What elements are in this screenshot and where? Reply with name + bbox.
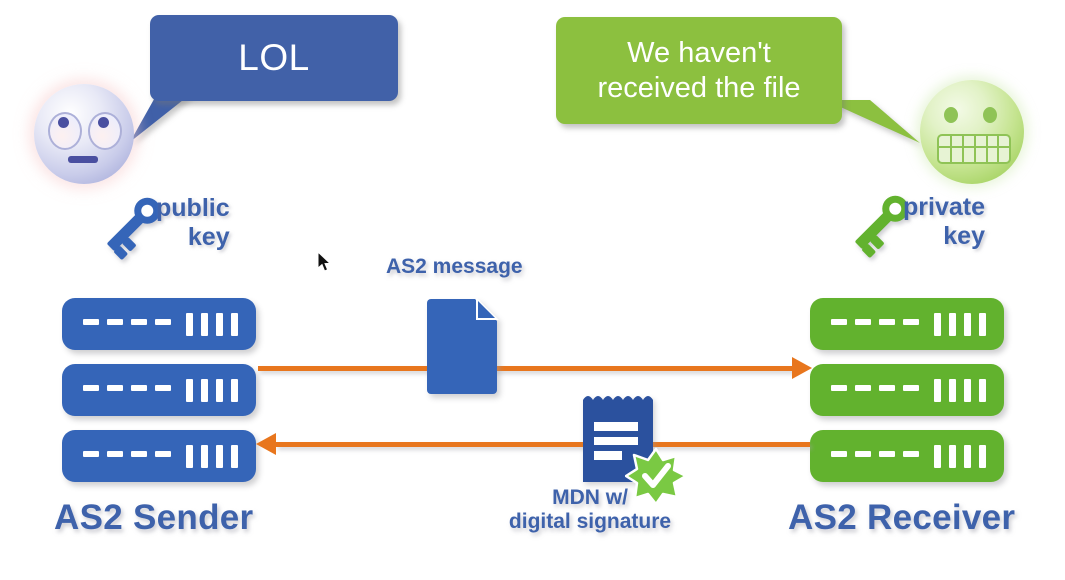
emoji-grimace-left-eye bbox=[944, 107, 958, 123]
emoji-left-pupil bbox=[58, 117, 69, 128]
server-slot bbox=[201, 313, 208, 336]
server-led bbox=[107, 385, 123, 391]
arrow-inbound-head bbox=[256, 433, 276, 455]
server-slot bbox=[979, 313, 986, 336]
emoji-right-eye bbox=[88, 112, 122, 150]
as2-message-label: AS2 message bbox=[386, 255, 523, 279]
server-led bbox=[107, 451, 123, 457]
arrow-outbound-line bbox=[258, 366, 796, 371]
server-led bbox=[83, 451, 99, 457]
emoji-grimace-teeth bbox=[937, 134, 1011, 164]
diagram-canvas: LOL We haven't received the file bbox=[0, 0, 1065, 580]
server-slot bbox=[186, 445, 193, 468]
server-led bbox=[855, 319, 871, 325]
teeth-divider bbox=[986, 136, 988, 162]
server-slot bbox=[934, 313, 941, 336]
teeth-divider bbox=[950, 136, 952, 162]
server-slot bbox=[231, 445, 238, 468]
document-icon bbox=[427, 295, 501, 394]
speech-bubble-right-line1: We haven't bbox=[597, 36, 800, 70]
public-key-label-line1: public bbox=[156, 194, 230, 223]
server-led bbox=[83, 385, 99, 391]
private-key-label: private key bbox=[903, 193, 985, 251]
server-slot bbox=[231, 313, 238, 336]
server-led bbox=[131, 319, 147, 325]
server-led bbox=[855, 385, 871, 391]
server-slot bbox=[216, 445, 223, 468]
server-unit-sender-2[interactable] bbox=[62, 364, 256, 416]
server-slot bbox=[201, 379, 208, 402]
server-led bbox=[903, 319, 919, 325]
server-led bbox=[155, 319, 171, 325]
server-slot bbox=[216, 379, 223, 402]
emoji-face-rolling-eyes bbox=[34, 84, 134, 184]
server-slot bbox=[979, 445, 986, 468]
emoji-left-eye bbox=[48, 112, 82, 150]
server-slot bbox=[231, 379, 238, 402]
arrow-inbound-line bbox=[276, 442, 810, 447]
teeth-divider bbox=[997, 136, 999, 162]
as2-receiver-label: AS2 Receiver bbox=[788, 498, 1015, 538]
public-key-icon bbox=[100, 190, 162, 265]
emoji-grimace-right-eye bbox=[983, 107, 997, 123]
server-slot bbox=[216, 313, 223, 336]
server-led bbox=[903, 385, 919, 391]
server-led bbox=[83, 319, 99, 325]
server-slot bbox=[964, 445, 971, 468]
speech-bubble-left-text: LOL bbox=[238, 37, 309, 79]
public-key-label-line2: key bbox=[156, 223, 230, 252]
private-key-label-line1: private bbox=[903, 193, 985, 222]
server-slot bbox=[934, 445, 941, 468]
server-slot bbox=[949, 313, 956, 336]
server-led bbox=[879, 385, 895, 391]
server-led bbox=[155, 451, 171, 457]
server-led bbox=[155, 385, 171, 391]
server-slot bbox=[186, 313, 193, 336]
server-led bbox=[879, 319, 895, 325]
server-led bbox=[131, 385, 147, 391]
server-led bbox=[831, 385, 847, 391]
server-led bbox=[107, 319, 123, 325]
server-slot bbox=[979, 379, 986, 402]
teeth-divider bbox=[974, 136, 976, 162]
server-slot bbox=[949, 445, 956, 468]
arrow-outbound-head bbox=[792, 357, 812, 379]
emoji-right-pupil bbox=[98, 117, 109, 128]
mouse-cursor bbox=[318, 252, 334, 274]
emoji-face-grimacing bbox=[920, 80, 1024, 184]
speech-bubble-right: We haven't received the file bbox=[556, 17, 842, 124]
server-led bbox=[879, 451, 895, 457]
server-led bbox=[903, 451, 919, 457]
server-unit-sender-1[interactable] bbox=[62, 298, 256, 350]
speech-bubble-right-line2: received the file bbox=[597, 71, 800, 105]
server-slot bbox=[964, 379, 971, 402]
server-slot bbox=[201, 445, 208, 468]
as2-sender-label: AS2 Sender bbox=[54, 498, 253, 538]
emoji-mouth bbox=[68, 156, 98, 163]
server-unit-receiver-2[interactable] bbox=[810, 364, 1004, 416]
server-slot bbox=[934, 379, 941, 402]
mdn-label: MDN w/ digital signature bbox=[485, 486, 695, 533]
server-unit-receiver-3[interactable] bbox=[810, 430, 1004, 482]
server-led bbox=[831, 319, 847, 325]
mdn-label-line2: digital signature bbox=[485, 510, 695, 534]
server-led bbox=[855, 451, 871, 457]
server-slot bbox=[949, 379, 956, 402]
private-key-label-line2: key bbox=[903, 222, 985, 251]
speech-bubble-left: LOL bbox=[150, 15, 398, 101]
server-unit-sender-3[interactable] bbox=[62, 430, 256, 482]
public-key-label: public key bbox=[156, 194, 230, 252]
private-key-icon bbox=[848, 188, 910, 263]
server-led bbox=[131, 451, 147, 457]
mdn-label-line1: MDN w/ bbox=[485, 486, 695, 510]
server-unit-receiver-1[interactable] bbox=[810, 298, 1004, 350]
server-led bbox=[831, 451, 847, 457]
server-slot bbox=[186, 379, 193, 402]
server-slot bbox=[964, 313, 971, 336]
teeth-divider bbox=[962, 136, 964, 162]
